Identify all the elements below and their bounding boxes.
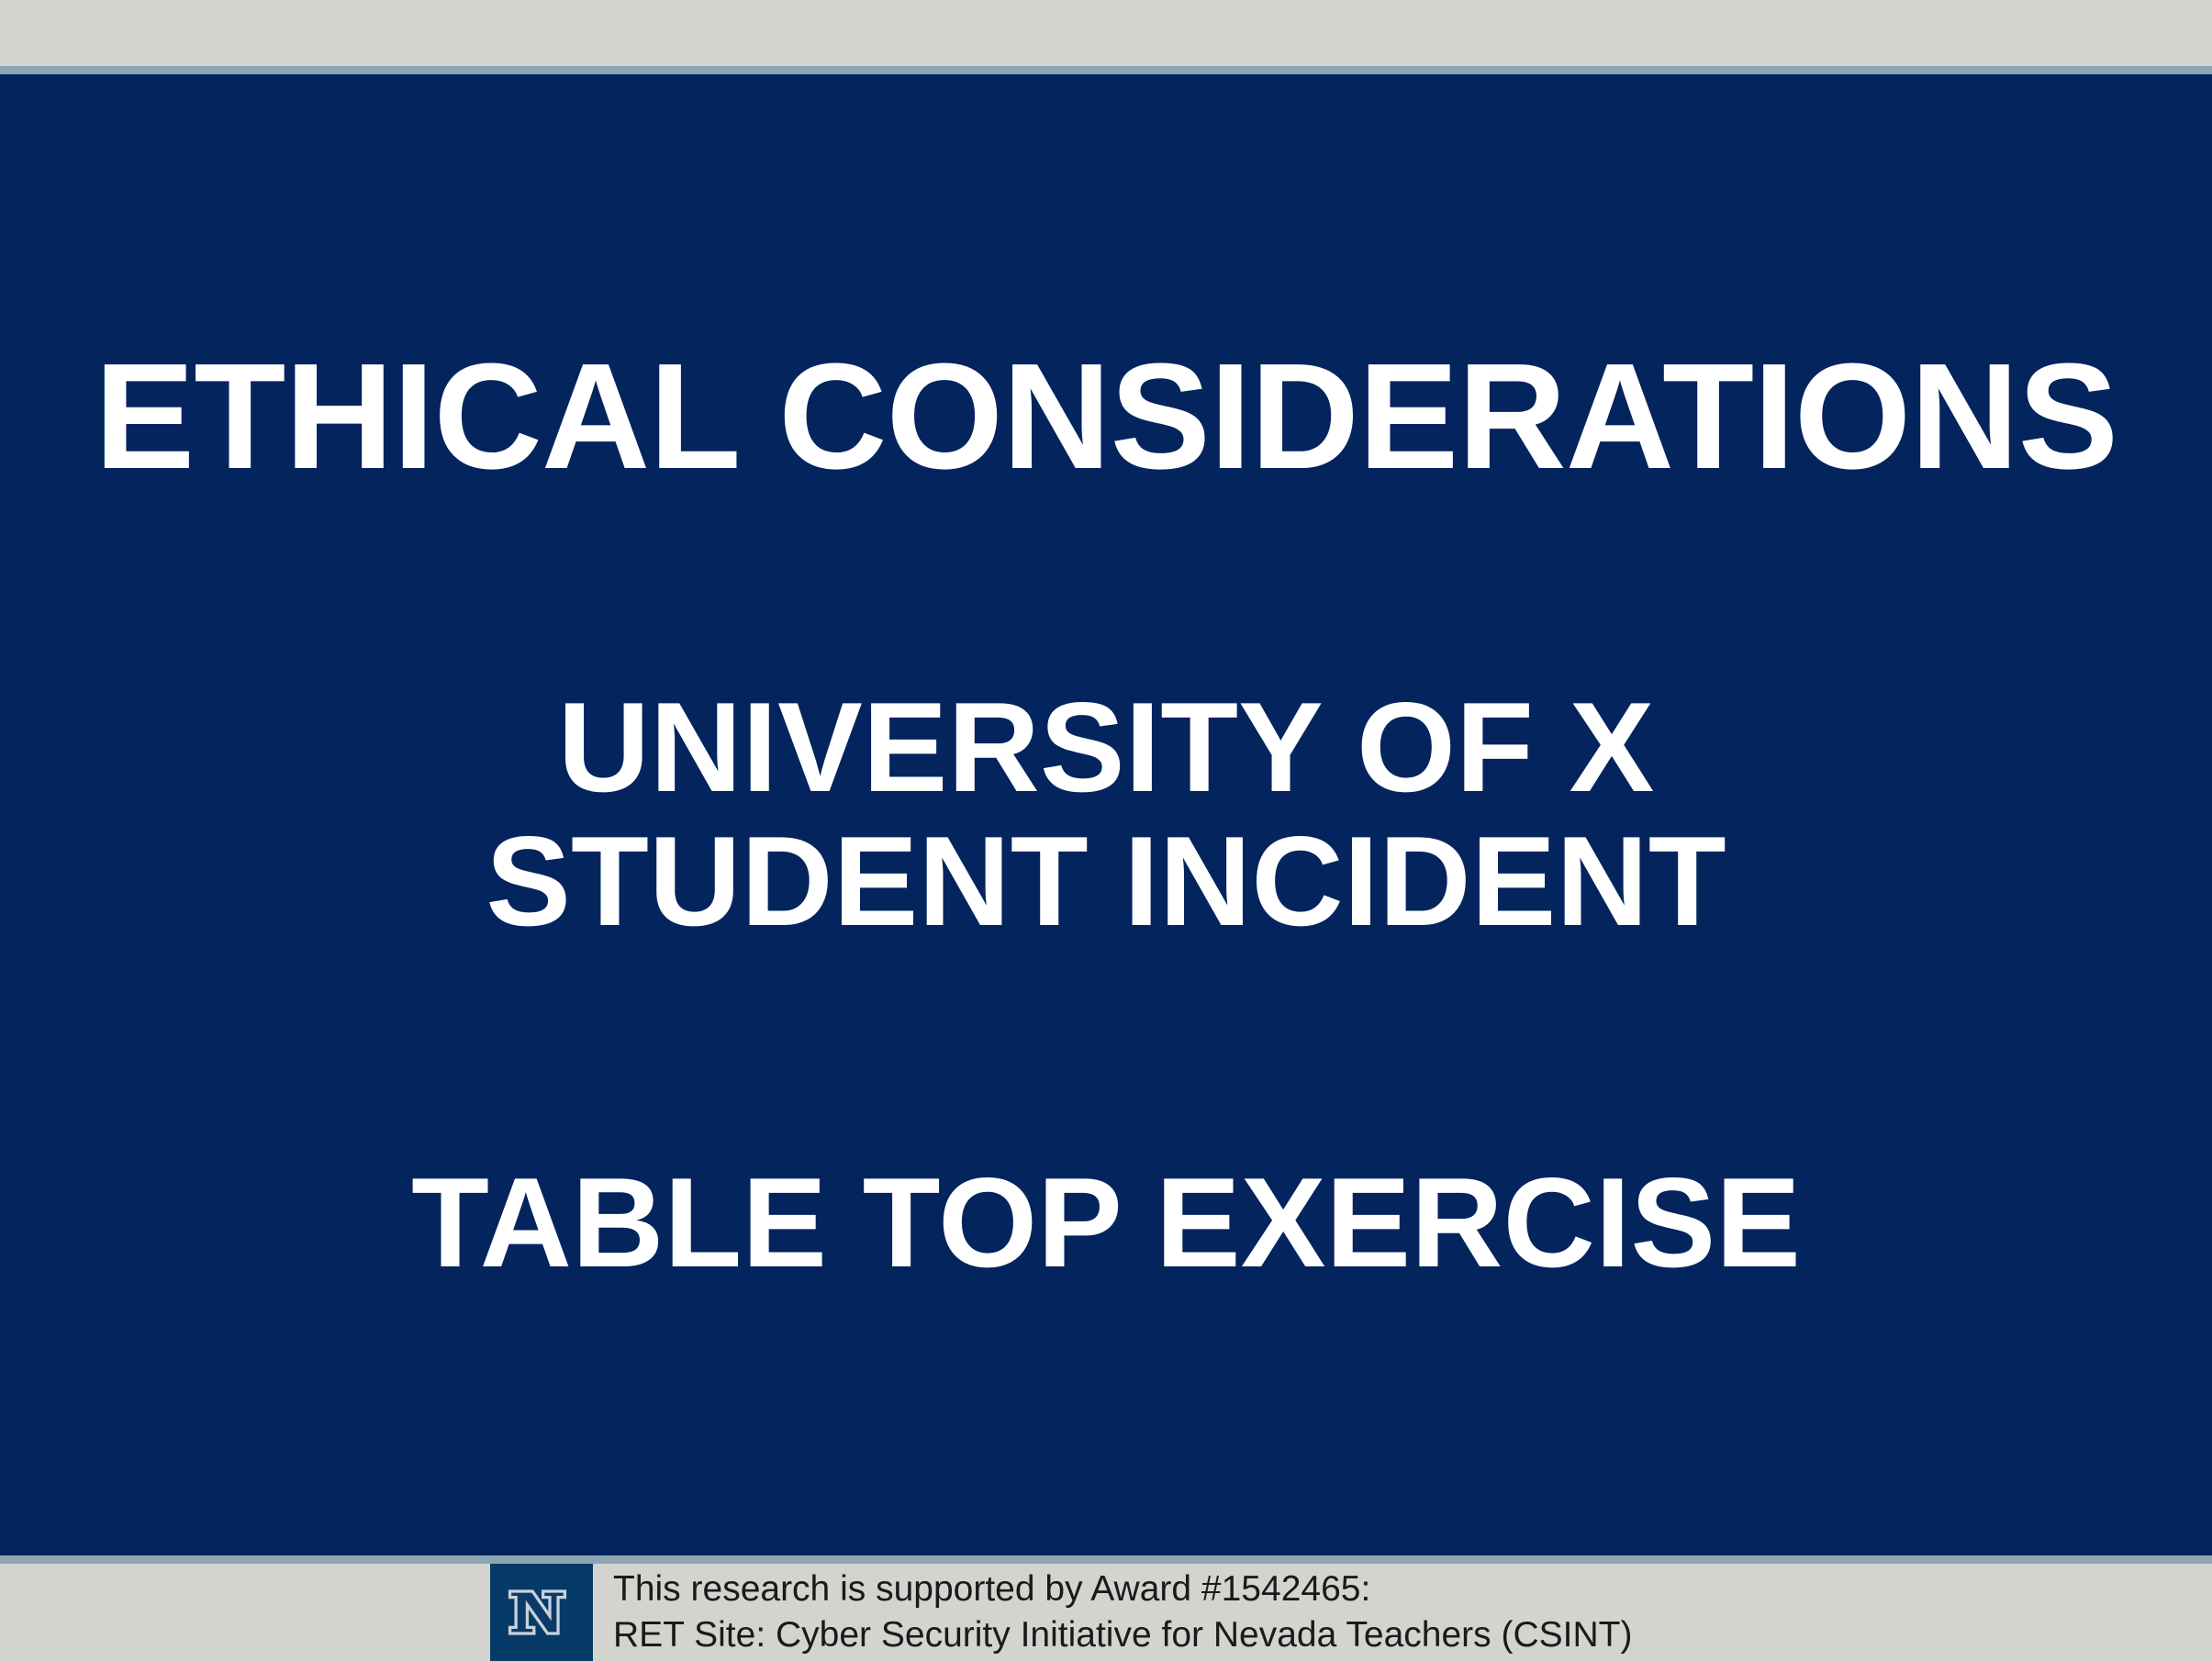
page-title: ETHICAL CONSIDERATIONS bbox=[0, 340, 2212, 493]
footer-site-line: RET Site: Cyber Security Initiative for … bbox=[613, 1612, 1632, 1658]
slide-canvas: ETHICAL CONSIDERATIONS UNIVERSITY OF X S… bbox=[0, 0, 2212, 1661]
exercise-block: TABLE TOP EXERCISE bbox=[0, 1156, 2212, 1290]
subtitle-line-2: STUDENT INCIDENT bbox=[0, 815, 2212, 949]
footer-inner: This research is supported by Award #154… bbox=[490, 1564, 1632, 1661]
top-divider-rule bbox=[0, 66, 2212, 74]
subtitle-block: UNIVERSITY OF X STUDENT INCIDENT bbox=[0, 681, 2212, 949]
footer-text-group: This research is supported by Award #154… bbox=[593, 1564, 1632, 1661]
university-n-logo-icon bbox=[490, 1564, 593, 1661]
title-block: ETHICAL CONSIDERATIONS bbox=[0, 340, 2212, 493]
slide-footer: This research is supported by Award #154… bbox=[0, 1564, 2212, 1661]
top-margin-band bbox=[0, 0, 2212, 66]
exercise-label: TABLE TOP EXERCISE bbox=[0, 1156, 2212, 1290]
footer-award-line: This research is supported by Award #154… bbox=[613, 1566, 1632, 1612]
subtitle-line-1: UNIVERSITY OF X bbox=[0, 681, 2212, 815]
bottom-divider-rule bbox=[0, 1555, 2212, 1564]
